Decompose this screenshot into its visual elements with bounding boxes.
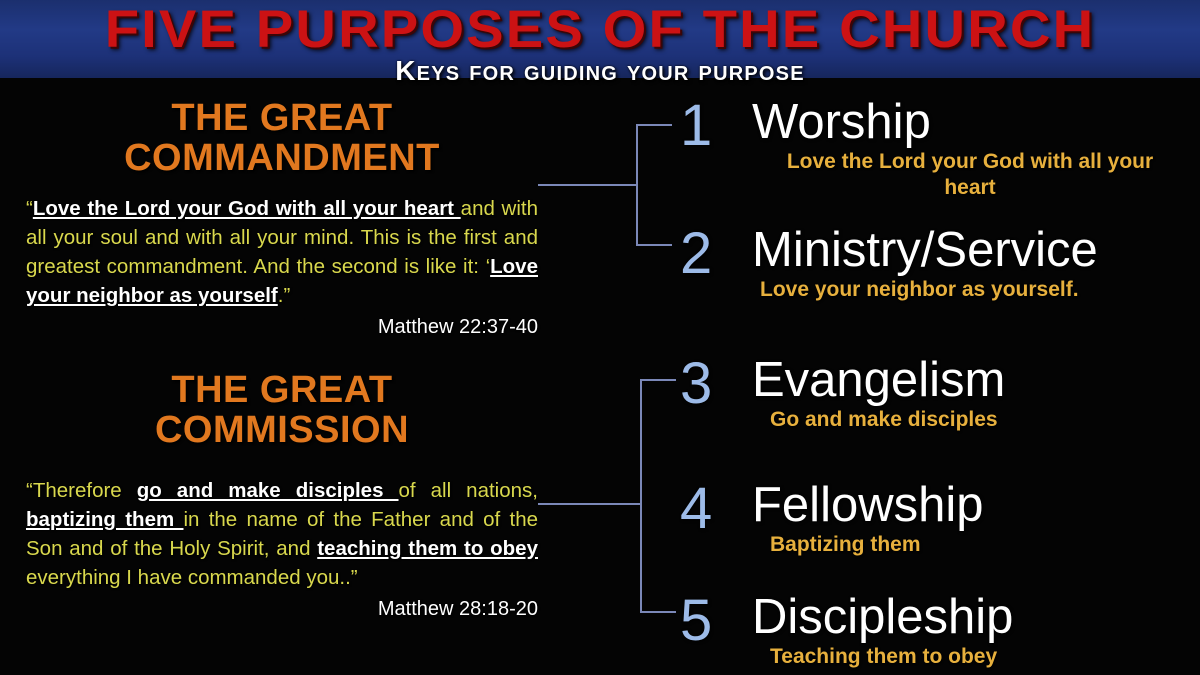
connector-stem-commandment (538, 184, 638, 186)
purpose-desc-3: Go and make disciples (770, 407, 1200, 433)
purpose-number-5: 5 (680, 592, 712, 650)
page-title: FIVE PURPOSES OF THE CHURCH (0, 2, 1200, 58)
great-commandment-citation: Matthew 22:37-40 (26, 310, 538, 339)
quote-emphasis: baptizing them (26, 508, 183, 531)
purpose-number-1: 1 (680, 97, 712, 155)
connector-arm-purpose-2 (636, 244, 672, 246)
purpose-desc-5: Teaching them to obey (770, 644, 1200, 670)
purpose-number-4: 4 (680, 480, 712, 538)
great-commission-citation: Matthew 28:18-20 (26, 592, 538, 621)
purpose-desc-2: Love your neighbor as yourself. (760, 277, 1190, 303)
great-commission-quote: “Therefore go and make disciples of all … (26, 476, 538, 592)
purpose-desc-4: Baptizing them (770, 532, 1200, 558)
great-commission-heading-line2: COMMISSION (155, 409, 409, 451)
quote-text: “ (26, 197, 33, 220)
great-commandment-heading-line2: COMMANDMENT (124, 137, 440, 179)
purpose-number-3: 3 (680, 355, 712, 413)
great-commandment-quote: “Love the Lord your God with all your he… (26, 194, 538, 310)
purpose-name-2: Ministry/Service (752, 221, 1098, 279)
purpose-name-5: Discipleship (752, 588, 1013, 646)
quote-emphasis: Love the Lord your God with all your hea… (33, 197, 461, 220)
purpose-desc-1: Love the Lord your God with all your hea… (760, 149, 1180, 201)
connector-stem-commission (538, 503, 642, 505)
purpose-name-1: Worship (752, 93, 931, 151)
connector-arm-purpose-1 (636, 124, 672, 126)
purpose-name-3: Evangelism (752, 351, 1005, 409)
great-commission-heading-line1: THE GREAT (171, 369, 392, 411)
purpose-name-4: Fellowship (752, 476, 983, 534)
great-commission-block: THE GREAT COMMISSION “Therefore go and m… (26, 370, 538, 621)
page-subtitle: Keys for guiding your purpose (0, 55, 1200, 87)
great-commission-heading: THE GREAT COMMISSION (26, 370, 538, 450)
great-commandment-heading: THE GREAT COMMANDMENT (26, 98, 538, 178)
connector-spine-commandment (636, 124, 638, 246)
quote-text: .” (278, 284, 291, 307)
connector-arm-purpose-3 (640, 379, 676, 381)
purpose-number-2: 2 (680, 225, 712, 283)
quote-text: of all nations, (399, 479, 538, 502)
quote-text: “Therefore (26, 479, 137, 502)
connector-spine-commission (640, 379, 642, 613)
great-commandment-heading-line1: THE GREAT (171, 97, 392, 139)
quote-text: everything I have commanded you..” (26, 566, 358, 589)
slide-canvas: FIVE PURPOSES OF THE CHURCH Keys for gui… (0, 0, 1200, 675)
quote-emphasis: teaching them to obey (317, 537, 538, 560)
connector-arm-purpose-5 (640, 611, 676, 613)
great-commandment-block: THE GREAT COMMANDMENT “Love the Lord you… (26, 98, 538, 339)
quote-emphasis: go and make disciples (137, 479, 399, 502)
